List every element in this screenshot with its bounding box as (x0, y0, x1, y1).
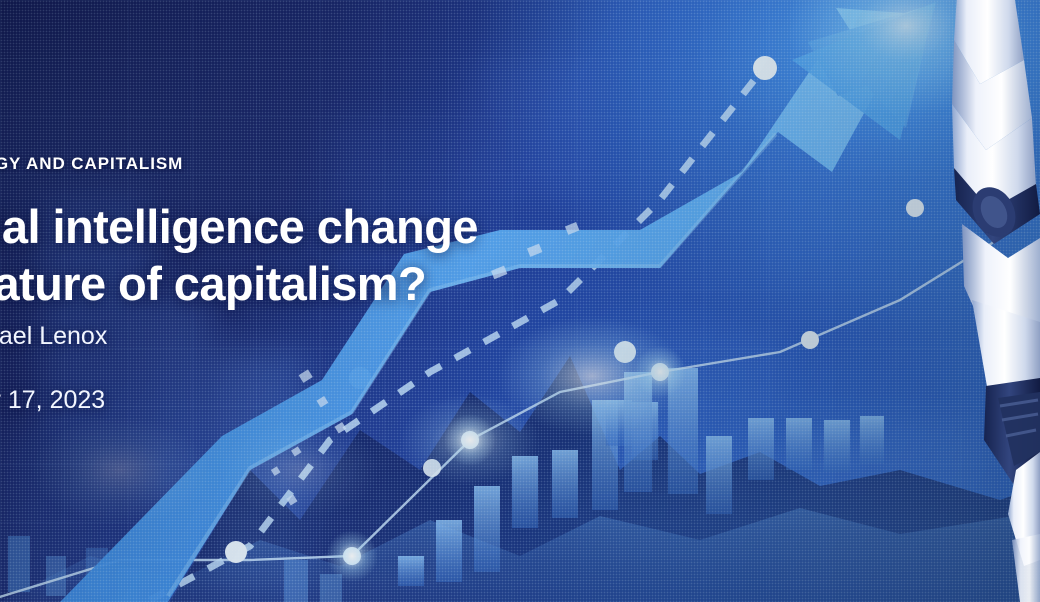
headline-line-2: the nature of capitalism? (0, 255, 672, 312)
page-title: Will artificial intelligence changethe n… (0, 198, 672, 312)
hero-banner: TECHNOLOGY AND CAPITALISM Will artificia… (0, 0, 1040, 602)
banner-text-block: TECHNOLOGY AND CAPITALISM Will artificia… (0, 0, 560, 602)
robot-hand (920, 0, 1040, 602)
kicker-label: TECHNOLOGY AND CAPITALISM (0, 154, 183, 174)
author-byline: By Michael Lenox (0, 322, 107, 351)
publish-date: October 17, 2023 (0, 386, 105, 415)
headline-line-1: Will artificial intelligence change (0, 200, 478, 253)
